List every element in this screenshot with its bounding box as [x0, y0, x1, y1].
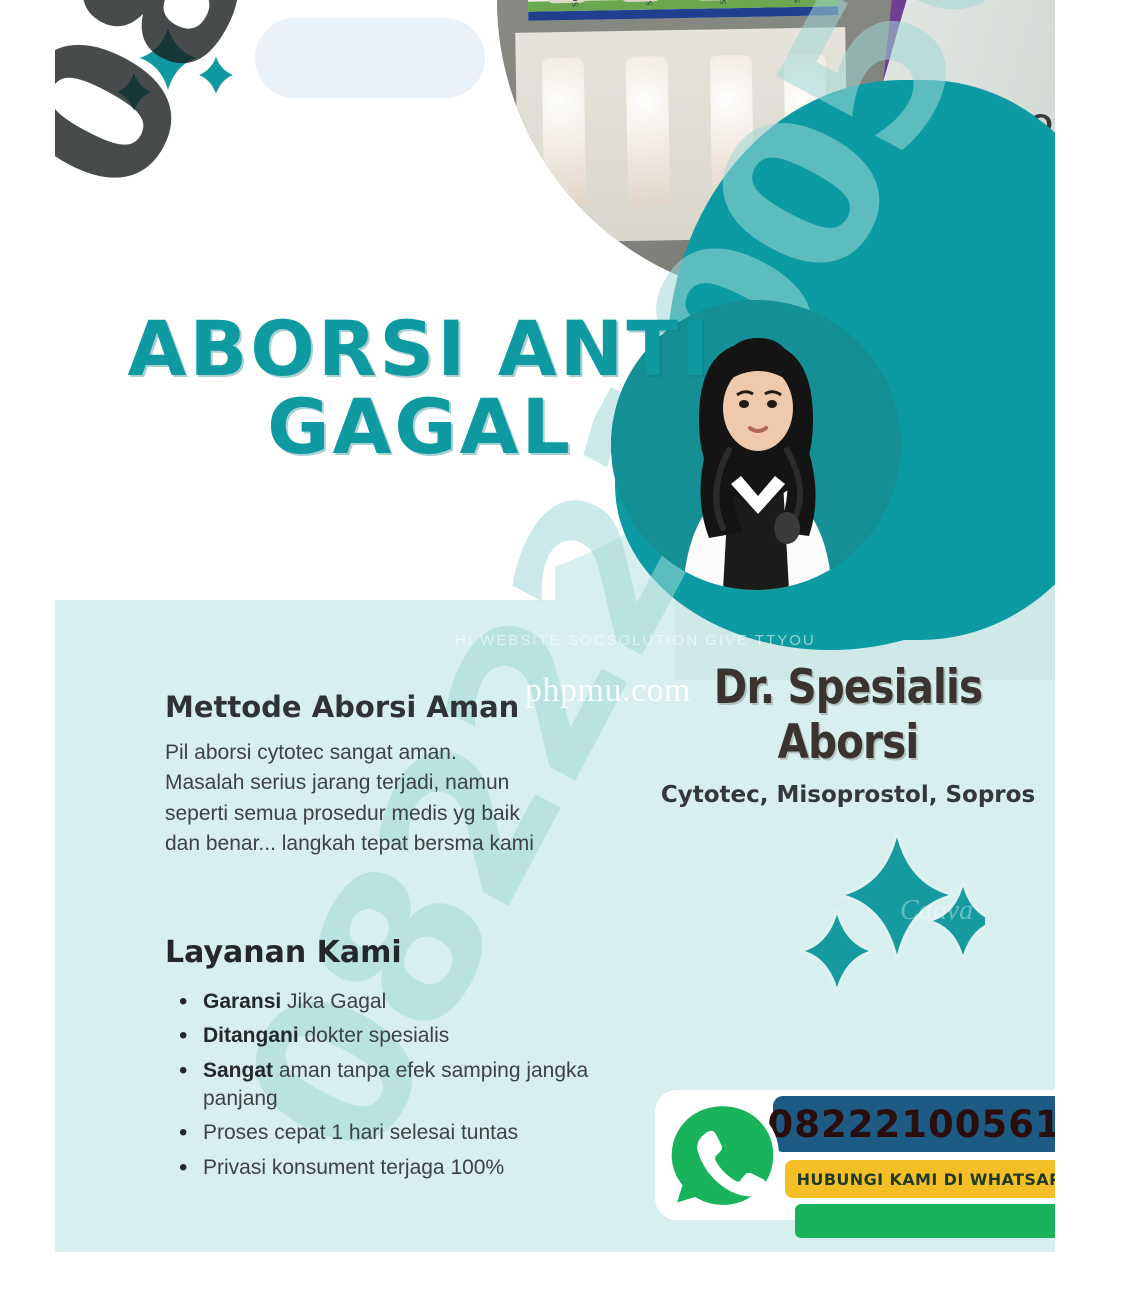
method-title: Mettode Aborsi Aman: [165, 690, 595, 724]
sparkle-icon-group-top: [110, 18, 240, 128]
method-body: Pil aborsi cytotec sangat aman. Masalah …: [165, 738, 595, 860]
pale-blue-pill-shape: [255, 18, 485, 98]
list-item: Ditangani dokter spesialis: [165, 1022, 635, 1050]
page-title: ABORSI ANTI GAGAL: [110, 310, 730, 465]
list-item: Garansi Jika Gagal: [165, 988, 635, 1016]
whatsapp-icon[interactable]: [665, 1098, 780, 1216]
list-item: Sangat aman tanpa efek samping jangka pa…: [165, 1057, 635, 1114]
headline-line-2: GAGAL: [110, 388, 730, 466]
method-line-3: seperti semua prosedur medis yg baik: [165, 799, 595, 829]
method-line-4: dan benar... langkah tepat bersma kami: [165, 829, 595, 859]
method-line-2: Masalah serius jarang terjadi, namun: [165, 768, 595, 798]
doctor-title: Dr. Spesialis Aborsi: [663, 660, 1033, 770]
list-item: Proses cepat 1 hari selesai tuntas: [165, 1119, 635, 1147]
whatsapp-number[interactable]: 082221005617: [773, 1096, 1055, 1152]
list-item: Privasi konsument terjaga 100%: [165, 1154, 635, 1182]
list-item-text: Jika Gagal: [281, 990, 386, 1013]
sparkle-icon-group-bottom: [785, 825, 985, 1015]
poster-stage: Misoprostal SOPROS MISOPROSTOL SOPROS MI…: [0, 0, 1122, 1300]
flyer-poster: Misoprostal SOPROS MISOPROSTOL SOPROS MI…: [55, 0, 1055, 1252]
whatsapp-cta-label[interactable]: HUBUNGI KAMI DI WHATSAPP: [785, 1160, 1055, 1198]
list-item-emphasis: Garansi: [203, 990, 281, 1013]
headline-line-1: ABORSI ANTI: [110, 310, 730, 388]
method-line-1: Pil aborsi cytotec sangat aman.: [165, 738, 595, 768]
method-section: Mettode Aborsi Aman Pil aborsi cytotec s…: [165, 690, 595, 860]
whatsapp-green-bar: [795, 1204, 1055, 1238]
list-item-text: Privasi konsument terjaga 100%: [203, 1156, 504, 1179]
list-item-text: dokter spesialis: [299, 1024, 450, 1047]
services-section: Layanan Kami Garansi Jika GagalDitangani…: [165, 935, 635, 1188]
whatsapp-banner[interactable]: 082221005617 HUBUNGI KAMI DI WHATSAPP: [655, 1090, 1055, 1240]
list-item-emphasis: Ditangani: [203, 1024, 299, 1047]
services-title: Layanan Kami: [165, 935, 635, 970]
list-item-emphasis: Sangat: [203, 1059, 273, 1082]
services-list: Garansi Jika GagalDitangani dokter spesi…: [165, 988, 635, 1182]
doctor-subtitle: Cytotec, Misoprostol, Sopros: [633, 782, 1055, 808]
doctor-section: Dr. Spesialis Aborsi Cytotec, Misoprosto…: [633, 660, 1055, 808]
list-item-text: Proses cepat 1 hari selesai tuntas: [203, 1121, 518, 1144]
